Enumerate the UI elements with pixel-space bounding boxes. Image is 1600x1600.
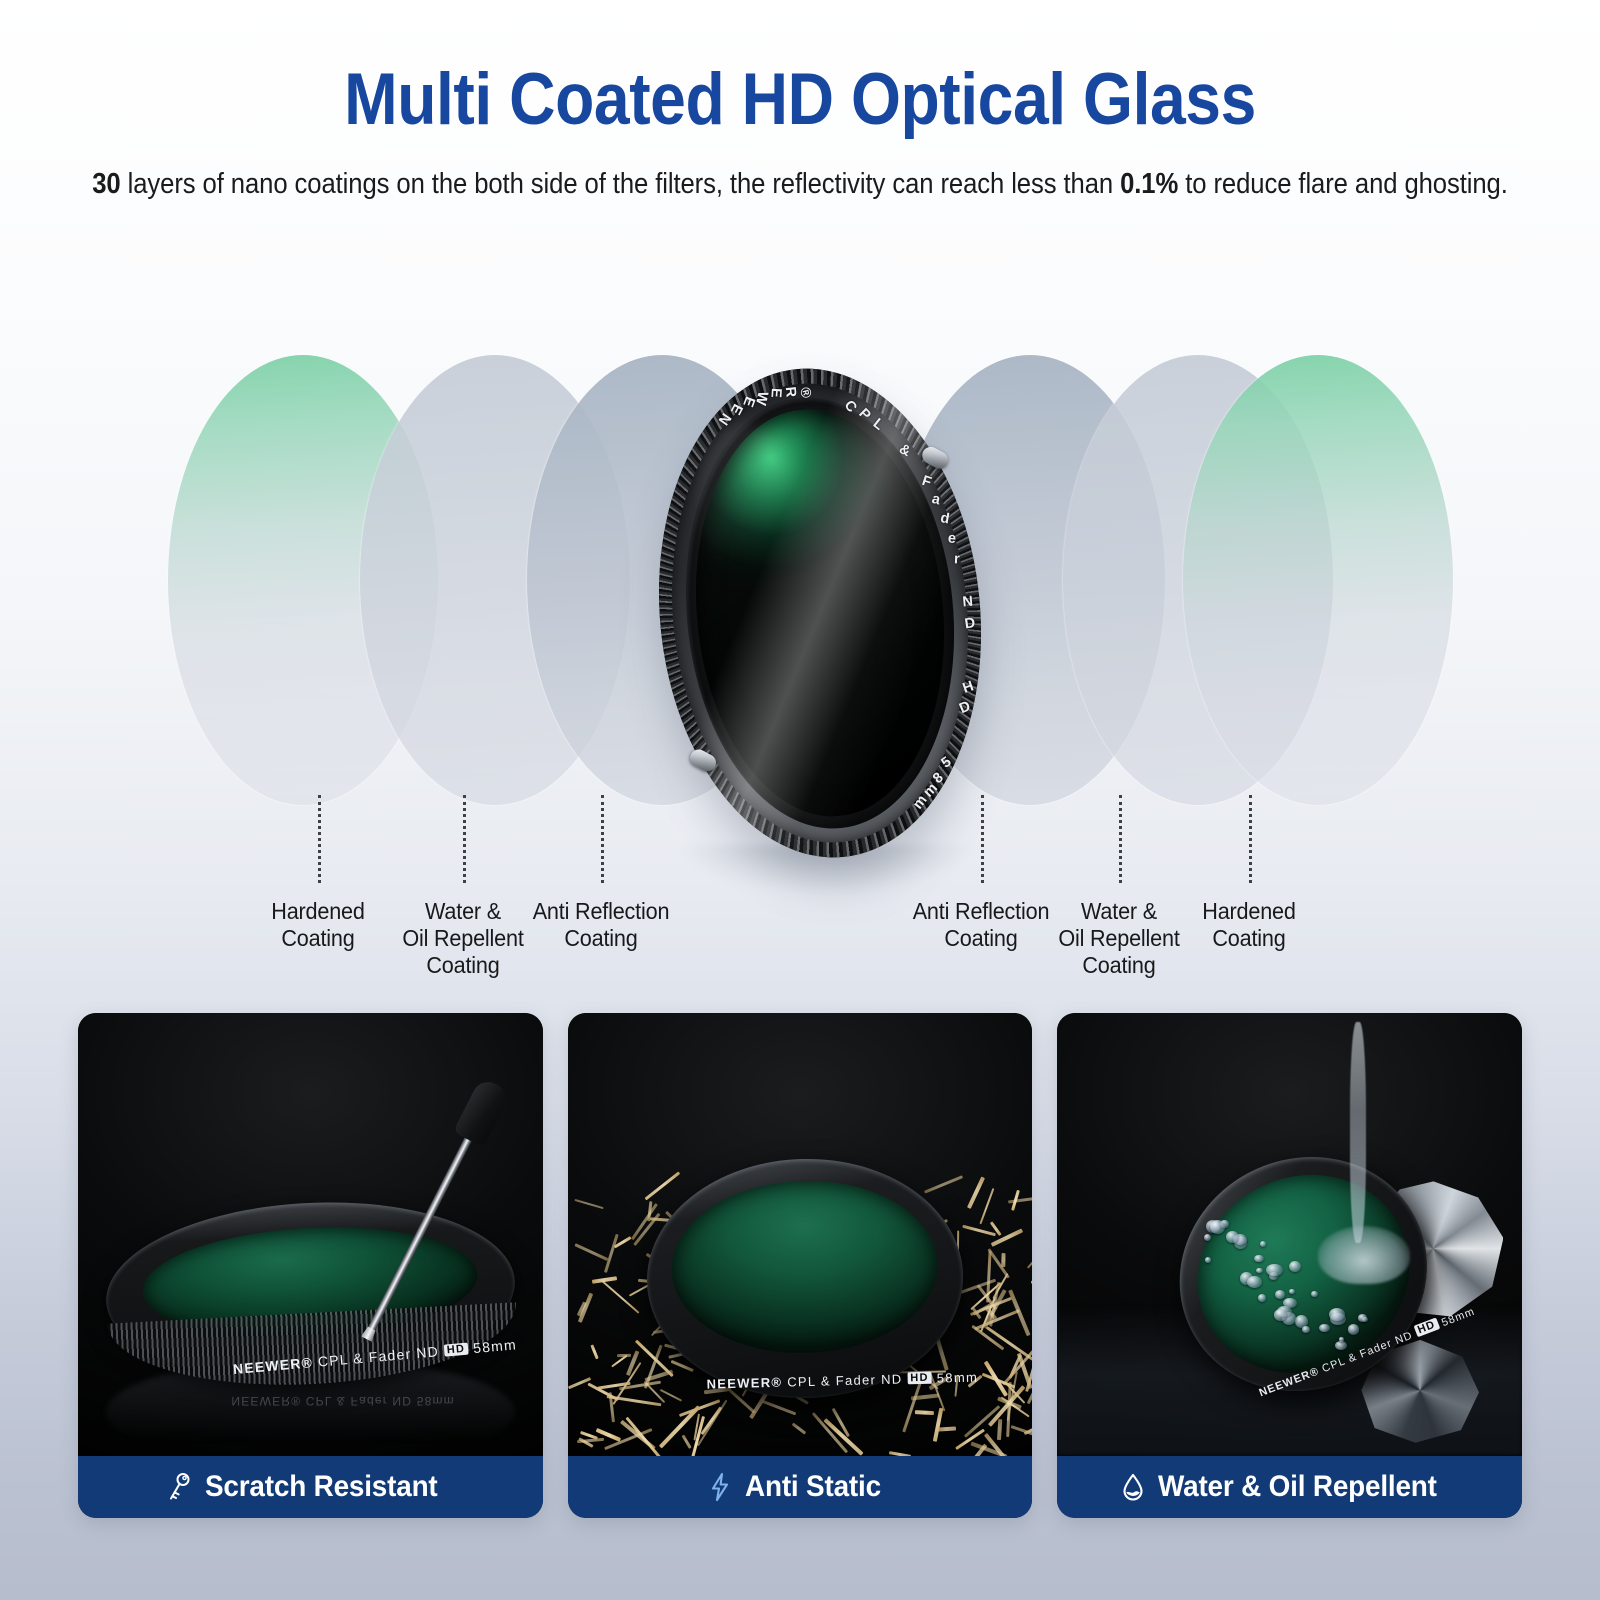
callout-label: HardenedCoating bbox=[1155, 898, 1343, 952]
hd-badge: HD bbox=[907, 1372, 932, 1385]
key-icon bbox=[166, 1472, 192, 1502]
water-bead bbox=[1274, 1309, 1288, 1321]
subtitle-highlight-layers: 30 bbox=[92, 168, 120, 200]
water-bead bbox=[1348, 1324, 1359, 1334]
water-bead bbox=[1311, 1291, 1318, 1298]
callout-leader-line bbox=[318, 795, 321, 883]
water-bead bbox=[1247, 1276, 1262, 1288]
subtitle-text-2: to reduce flare and ghosting. bbox=[1178, 168, 1508, 200]
straw-piece bbox=[933, 1408, 943, 1442]
callout-label-line: Coating bbox=[369, 952, 557, 979]
filter-mirror-text: NEEWER® CPL & Fader ND 58mm bbox=[231, 1394, 455, 1408]
straw-piece bbox=[962, 1225, 996, 1237]
straw-piece bbox=[792, 1423, 806, 1435]
feature-card-scratch-resistant[interactable]: NEEWER® CPL & Fader ND HD 58mm NEEWER® C… bbox=[78, 1013, 543, 1518]
feature-cards: NEEWER® CPL & Fader ND HD 58mm NEEWER® C… bbox=[78, 1013, 1522, 1518]
card-banner-scratch-resistant: Scratch Resistant bbox=[78, 1456, 543, 1518]
straw-piece bbox=[975, 1309, 1021, 1330]
straw-piece bbox=[645, 1171, 681, 1200]
main-filter-product: NEEWER®CPL&FaderNDHD58mm bbox=[637, 354, 1002, 872]
callout-label-line: Anti Reflection bbox=[507, 898, 695, 925]
callout-label-line: Coating bbox=[1025, 952, 1213, 979]
straw-piece bbox=[575, 1244, 609, 1261]
straw-piece bbox=[603, 1281, 641, 1314]
straw-piece bbox=[1001, 1252, 1005, 1267]
feature-card-anti-static[interactable]: NEEWER® CPL & Fader ND HD 58mm Anti Stat… bbox=[568, 1013, 1033, 1518]
straw-piece bbox=[915, 1411, 934, 1416]
straw-piece bbox=[979, 1188, 994, 1225]
straw-piece bbox=[1031, 1277, 1033, 1284]
product-filter-flat: NEEWER® CPL & Fader ND HD 58mm bbox=[102, 1193, 520, 1391]
coating-disc-hardened-right bbox=[1183, 355, 1453, 805]
scratch-resistant-photo: NEEWER® CPL & Fader ND HD 58mm NEEWER® C… bbox=[78, 1013, 543, 1456]
water-drop-icon bbox=[1121, 1472, 1145, 1502]
card-banner-water-oil-repellent: Water & Oil Repellent bbox=[1057, 1456, 1522, 1518]
callout-leader-line bbox=[463, 795, 466, 883]
anti-static-photo: NEEWER® CPL & Fader ND HD 58mm bbox=[568, 1013, 1033, 1456]
filter-green-glass bbox=[669, 1177, 939, 1356]
water-bead bbox=[1335, 1341, 1346, 1350]
water-bead bbox=[1266, 1264, 1283, 1277]
engrave-brand: NEEWER® bbox=[706, 1374, 782, 1391]
water-bead bbox=[1258, 1294, 1266, 1302]
callout-leader-line bbox=[981, 795, 984, 883]
water-bead bbox=[1204, 1234, 1211, 1241]
water-bead bbox=[1254, 1255, 1264, 1262]
water-bead bbox=[1358, 1314, 1367, 1321]
coating-layers-diagram: NEEWER®CPL&FaderNDHD58mm bbox=[0, 355, 1600, 915]
straw-piece bbox=[762, 1400, 796, 1415]
water-oil-repellent-photo: NEEWER® CPL & Fader ND HD 58mm bbox=[1057, 1013, 1522, 1456]
water-bead bbox=[1205, 1257, 1212, 1263]
water-bead bbox=[1210, 1220, 1225, 1234]
water-beads bbox=[1057, 1013, 1522, 1456]
callout-label-line: Coating bbox=[507, 925, 695, 952]
card-banner-anti-static: Anti Static bbox=[568, 1456, 1033, 1518]
water-bead bbox=[1289, 1289, 1294, 1294]
straw-piece bbox=[603, 1233, 618, 1273]
water-bead bbox=[1339, 1337, 1344, 1342]
feature-card-water-oil-repellent[interactable]: NEEWER® CPL & Fader ND HD 58mm Water & O… bbox=[1057, 1013, 1522, 1518]
callout-label-line: Hardened bbox=[1155, 898, 1343, 925]
straw-piece bbox=[938, 1427, 957, 1432]
lightning-icon bbox=[708, 1472, 732, 1502]
water-bead bbox=[1275, 1290, 1285, 1299]
subtitle-highlight-reflectivity: 0.1% bbox=[1120, 168, 1178, 200]
header: Multi Coated HD Optical Glass 30 layers … bbox=[0, 0, 1600, 207]
callout-label-line: Coating bbox=[1155, 925, 1343, 952]
card-label-water-oil-repellent: Water & Oil Repellent bbox=[1158, 1470, 1437, 1504]
engrave-size: 58mm bbox=[936, 1369, 978, 1385]
straw-piece bbox=[903, 1382, 922, 1432]
straw-piece bbox=[968, 1177, 986, 1210]
straw-piece bbox=[574, 1198, 603, 1209]
hd-badge: HD bbox=[443, 1343, 468, 1357]
water-bead bbox=[1302, 1326, 1310, 1333]
product-infographic-page: Multi Coated HD Optical Glass 30 layers … bbox=[0, 0, 1600, 1600]
water-bead bbox=[1289, 1261, 1301, 1272]
straw-piece bbox=[681, 1434, 691, 1448]
card-label-anti-static: Anti Static bbox=[745, 1470, 881, 1504]
water-bead bbox=[1256, 1268, 1263, 1274]
callout-leader-line bbox=[601, 795, 604, 883]
page-subtitle: 30 layers of nano coatings on the both s… bbox=[80, 161, 1520, 207]
engrave-size: 58mm bbox=[472, 1337, 517, 1357]
callout-leader-line bbox=[1249, 795, 1252, 883]
card-label-scratch-resistant: Scratch Resistant bbox=[205, 1470, 438, 1504]
straw-piece bbox=[924, 1176, 963, 1194]
callout-label: Anti ReflectionCoating bbox=[507, 898, 695, 952]
water-bead bbox=[1319, 1324, 1330, 1332]
callout-leader-line bbox=[1119, 795, 1122, 883]
subtitle-text-1: layers of nano coatings on the both side… bbox=[121, 168, 1120, 200]
straw-piece bbox=[997, 1419, 1002, 1441]
straw-piece bbox=[1027, 1238, 1032, 1269]
page-title: Multi Coated HD Optical Glass bbox=[96, 62, 1504, 139]
water-bead bbox=[1260, 1241, 1267, 1248]
straw-piece bbox=[1008, 1196, 1032, 1204]
straw-piece bbox=[590, 1344, 599, 1359]
